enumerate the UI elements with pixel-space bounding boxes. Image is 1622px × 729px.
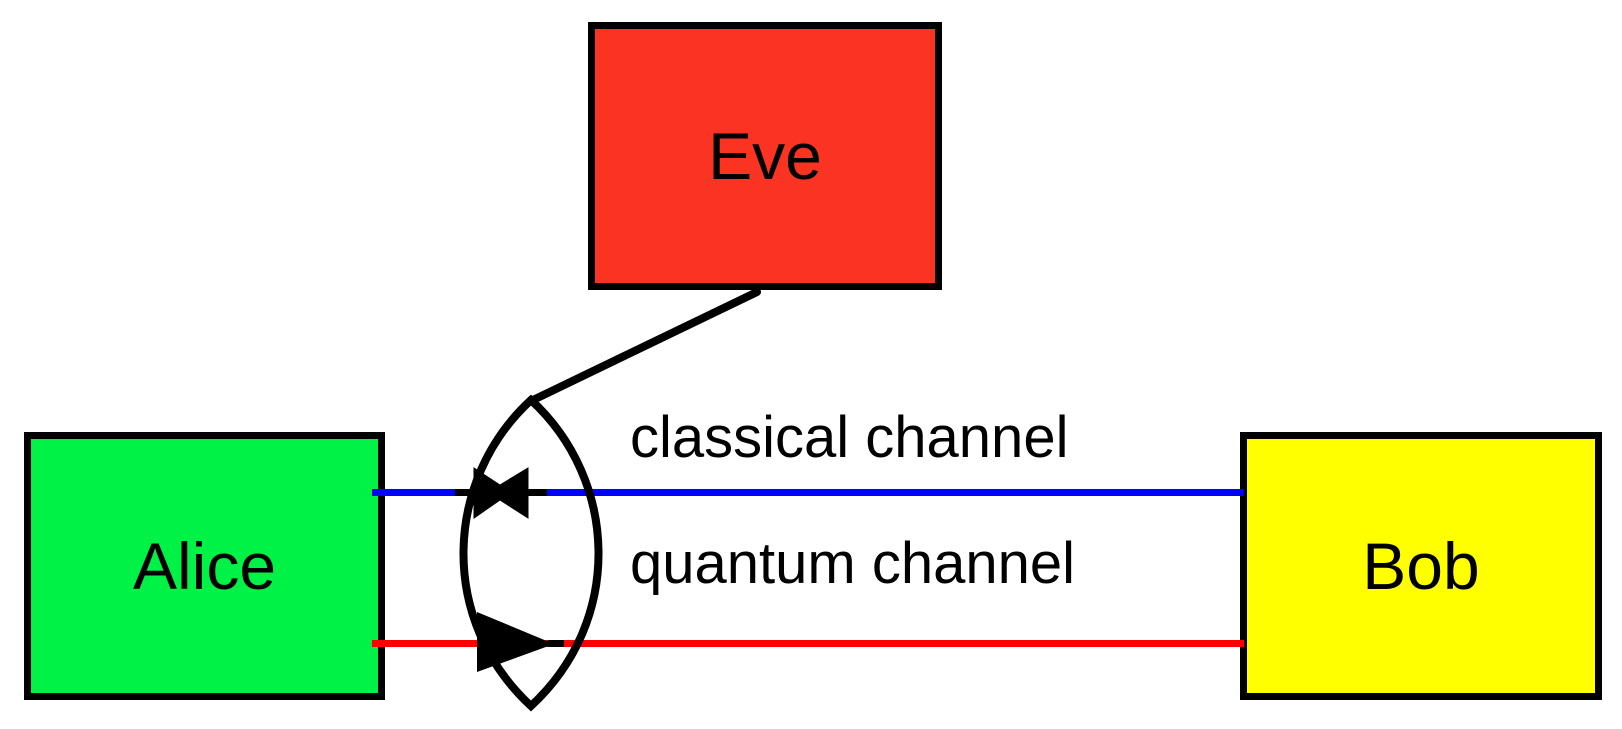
node-eve[interactable]: Eve: [588, 22, 942, 290]
node-alice-label: Alice: [133, 533, 276, 599]
node-alice[interactable]: Alice: [24, 432, 385, 700]
eve-intercept-connector: [531, 292, 757, 401]
eye-lens-shape: [463, 400, 598, 706]
node-eve-label: Eve: [708, 123, 822, 189]
quantum-channel-label: quantum channel: [630, 530, 1075, 597]
node-bob-label: Bob: [1362, 533, 1479, 599]
classical-channel-line: [372, 489, 1244, 496]
classical-channel-label: classical channel: [630, 404, 1068, 471]
quantum-channel-line: [372, 640, 1244, 647]
diagram-canvas: Eve Alice Bob classical channel quantum …: [0, 0, 1622, 729]
node-bob[interactable]: Bob: [1240, 432, 1602, 700]
